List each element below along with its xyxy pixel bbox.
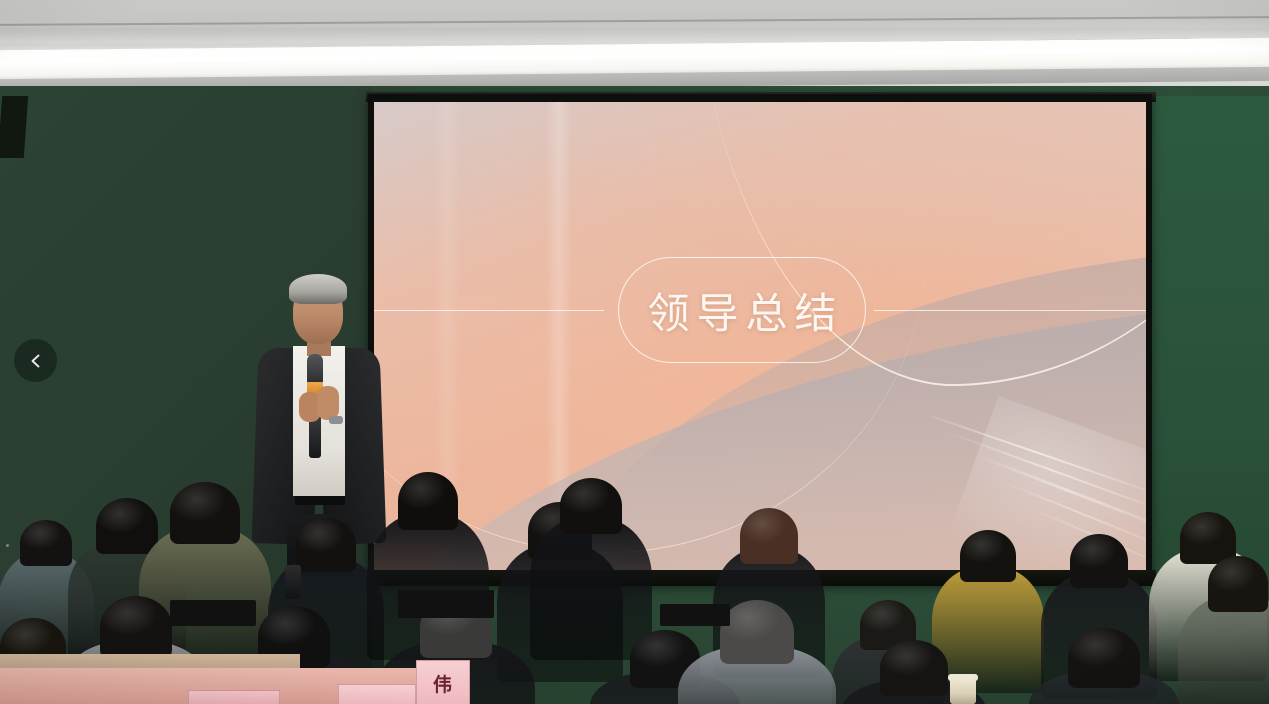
slide-hairline-left <box>374 310 604 311</box>
audience-member-head <box>170 482 240 544</box>
name-placard: 伟 <box>416 660 470 704</box>
audience-member-head <box>1208 556 1268 612</box>
slide-title-pill: 领导总结 <box>618 257 866 363</box>
name-placard <box>188 690 280 704</box>
audience-member-head <box>100 596 172 658</box>
audience-member-head <box>296 518 356 572</box>
microphone-head-icon <box>307 354 323 384</box>
audience-member-head <box>560 478 622 534</box>
laptop <box>398 590 494 618</box>
water-cup <box>950 678 976 704</box>
audience-member-head <box>20 520 72 566</box>
laptop <box>170 600 256 626</box>
presenter-belt <box>295 496 345 505</box>
slide-title-text: 领导总结 <box>640 280 843 341</box>
audience-member-head <box>1070 534 1128 588</box>
mobile-phone <box>285 565 301 599</box>
name-placard <box>338 684 416 704</box>
presenter-hair <box>289 274 347 304</box>
wall-speck <box>6 544 9 547</box>
audience-member-head <box>720 600 794 664</box>
photo-viewer: 领导总结 伟 <box>0 0 1269 704</box>
audience-member-head <box>880 640 948 696</box>
audience-member-head <box>740 508 798 564</box>
audience-member-body <box>530 518 652 660</box>
presenter-hand-right <box>317 386 339 420</box>
audience-member-head <box>96 498 158 554</box>
presenter-wristwatch <box>329 416 343 424</box>
laptop <box>660 604 730 626</box>
audience-member-head <box>1180 512 1236 564</box>
name-placard-text: 伟 <box>433 670 453 697</box>
audience-member-body <box>1178 596 1269 704</box>
audience-member-head <box>960 530 1016 582</box>
audience-member-head <box>1068 628 1140 688</box>
prev-photo-button[interactable] <box>14 339 57 382</box>
audience-member-head <box>398 472 458 530</box>
slide-hairline-right <box>874 310 1146 311</box>
wall-mounted-speaker <box>0 96 28 158</box>
chevron-left-icon <box>27 352 45 370</box>
